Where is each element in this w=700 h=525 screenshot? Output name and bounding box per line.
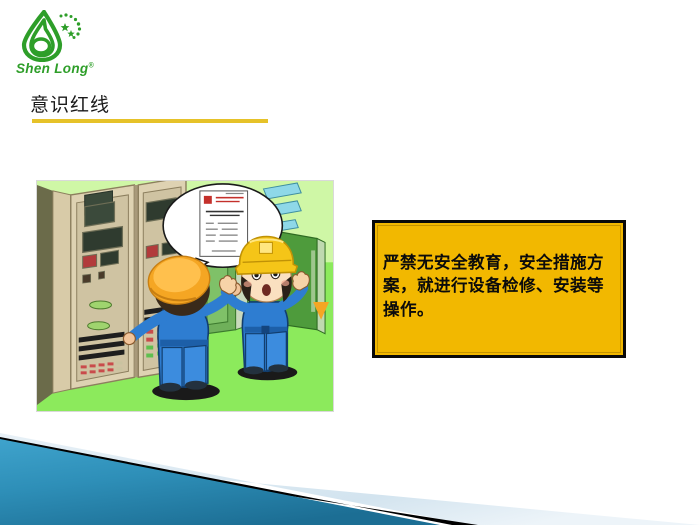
title-underline-rule (32, 119, 268, 123)
black-diagonal-stripe (0, 437, 478, 525)
safety-illustration (36, 180, 334, 412)
registered-mark: ® (88, 63, 93, 70)
warning-callout-box: 严禁无安全教育，安全措施方案，就进行设备检修、安装等操作。 (372, 220, 626, 358)
pale-wedge (0, 433, 700, 525)
brand-name: Shen Long® (16, 61, 94, 76)
illustration-artwork (37, 181, 333, 411)
page-title: 意识红线 (30, 90, 110, 117)
slide-canvas: Shen Long® 意识红线 (0, 0, 700, 525)
decoration-shapes (0, 425, 700, 525)
blue-wedge (0, 439, 440, 525)
bottom-decoration (0, 425, 700, 525)
brand-logo: Shen Long® (14, 10, 106, 82)
water-droplet-logo-icon (14, 10, 96, 62)
warning-text: 严禁无安全教育，安全措施方案，就进行设备检修、安装等操作。 (383, 251, 617, 321)
